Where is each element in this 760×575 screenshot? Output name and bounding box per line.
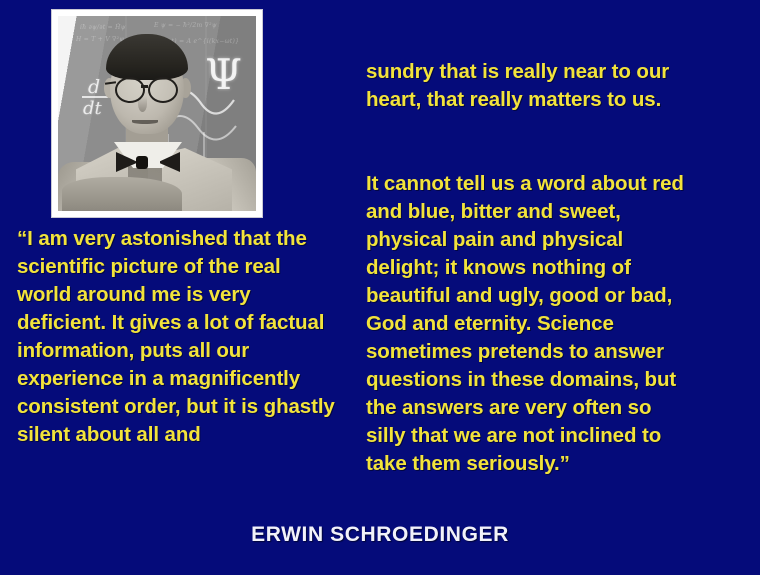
quote-slide: iħ ∂ψ/∂t = Ĥψ H = T + V ∇²ψ + k²ψ = 0 E … [0,0,760,575]
figure-eyeglass-left [115,77,145,103]
figure-eyeglass-bridge [141,85,148,88]
quote-right-paragraph-1: sundry that is really near to our heart,… [366,60,669,111]
quote-right-column: sundry that is really near to our heart,… [366,30,696,478]
paragraph-spacer [366,114,696,142]
figure-folded-arms [62,177,182,211]
attribution-name: ERWIN SCHROEDINGER [0,523,760,547]
figure-bowtie-knot [136,156,148,169]
figure-hair [106,34,188,80]
portrait-frame: iħ ∂ψ/∂t = Ĥψ H = T + V ∇²ψ + k²ψ = 0 E … [52,10,262,217]
quote-left-column: “I am very astonished that the scientifi… [17,225,337,449]
portrait-figure [58,16,256,211]
figure-mouth [132,120,158,124]
quote-right-paragraph-2: It cannot tell us a word about red and b… [366,172,684,475]
figure-eyeglass-right [148,77,178,103]
portrait-photo: iħ ∂ψ/∂t = Ĥψ H = T + V ∇²ψ + k²ψ = 0 E … [58,16,256,211]
